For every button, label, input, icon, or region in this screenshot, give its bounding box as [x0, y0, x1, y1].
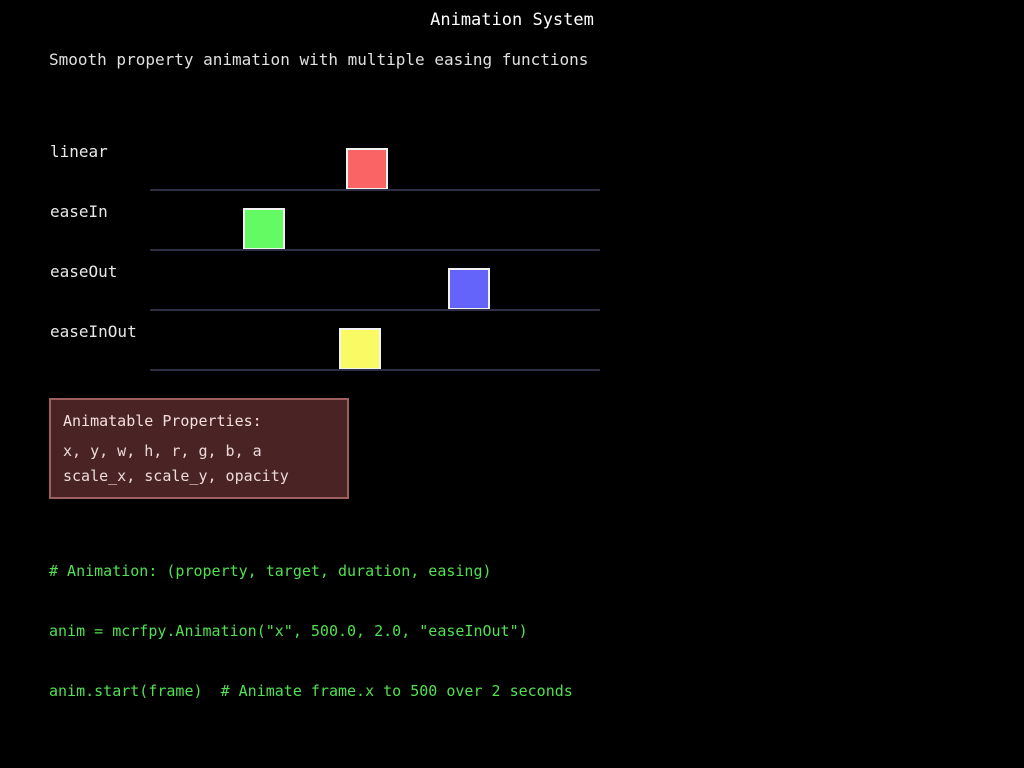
code-sample-block: # Animation: (property, target, duration… — [49, 521, 573, 741]
code-line-animation-constructor: anim = mcrfpy.Animation("x", 500.0, 2.0,… — [49, 621, 573, 641]
easing-track-label-linear: linear — [50, 142, 108, 162]
animated-box-easein — [243, 208, 285, 250]
easing-track-label-easeout: easeOut — [50, 262, 117, 282]
animatable-properties-title: Animatable Properties: — [63, 411, 262, 431]
easing-track-label-easein: easeIn — [50, 202, 108, 222]
animatable-properties-panel: Animatable Properties: x, y, w, h, r, g,… — [49, 398, 349, 499]
code-line-animation-start: anim.start(frame) # Animate frame.x to 5… — [49, 681, 573, 701]
easing-track-easeinout: easeInOut — [0, 322, 1024, 382]
easing-track-label-easeinout: easeInOut — [50, 322, 137, 342]
track-divider-line — [150, 189, 600, 191]
page-title: Animation System — [0, 10, 1024, 30]
easing-track-easeout: easeOut — [0, 262, 1024, 322]
animatable-properties-list-line-1: x, y, w, h, r, g, b, a — [63, 441, 262, 461]
animation-system-demo-screen: Animation System Smooth property animati… — [0, 0, 1024, 768]
easing-track-linear: linear — [0, 142, 1024, 202]
animatable-properties-list-line-2: scale_x, scale_y, opacity — [63, 466, 289, 486]
animated-box-linear — [346, 148, 388, 190]
animated-box-easeout — [448, 268, 490, 310]
track-divider-line — [150, 309, 600, 311]
code-line-comment: # Animation: (property, target, duration… — [49, 561, 573, 581]
track-divider-line — [150, 369, 600, 371]
track-divider-line — [150, 249, 600, 251]
easing-track-easein: easeIn — [0, 202, 1024, 262]
animated-box-easeinout — [339, 328, 381, 370]
page-subtitle: Smooth property animation with multiple … — [49, 50, 588, 70]
